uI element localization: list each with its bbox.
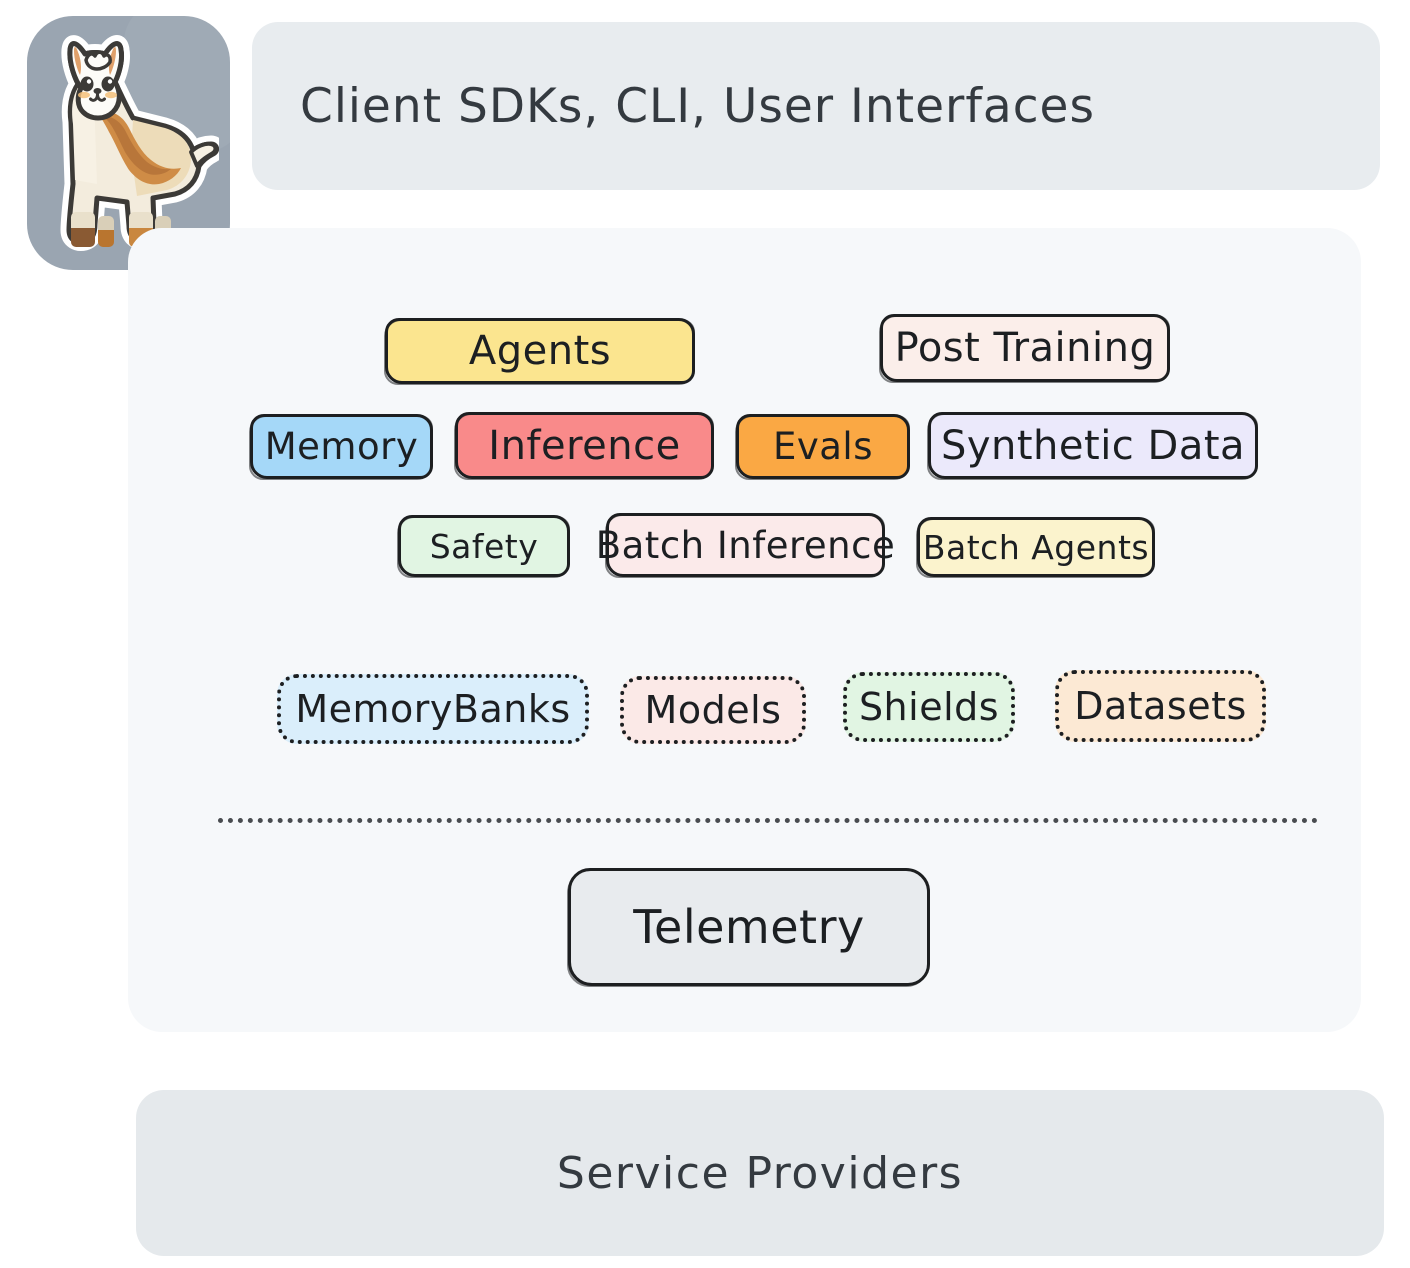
- api-box-label: Agents: [469, 328, 611, 374]
- api-box-label: Synthetic Data: [941, 423, 1245, 469]
- api-box-label: Evals: [773, 425, 873, 468]
- api-box-post-training[interactable]: Post Training: [880, 314, 1170, 382]
- api-box-inference[interactable]: Inference: [455, 412, 714, 479]
- api-box-label: Batch Agents: [923, 528, 1149, 567]
- telemetry-label: Telemetry: [633, 900, 864, 954]
- resource-box-label: MemoryBanks: [295, 687, 570, 731]
- api-box-memory[interactable]: Memory: [250, 414, 433, 479]
- api-box-label: Inference: [488, 423, 680, 469]
- telemetry-box[interactable]: Telemetry: [568, 868, 930, 986]
- api-box-agents[interactable]: Agents: [385, 318, 695, 384]
- api-box-safety[interactable]: Safety: [398, 515, 570, 577]
- api-box-label: Post Training: [895, 325, 1156, 371]
- api-box-synthetic-data[interactable]: Synthetic Data: [928, 412, 1258, 479]
- resource-box-datasets[interactable]: Datasets: [1055, 670, 1266, 742]
- resource-box-shields[interactable]: Shields: [843, 672, 1015, 742]
- resource-box-models[interactable]: Models: [620, 676, 806, 744]
- bottom-banner-title: Service Providers: [557, 1148, 963, 1199]
- llama-icon: [41, 34, 219, 258]
- top-banner: Client SDKs, CLI, User Interfaces: [252, 22, 1380, 190]
- resource-box-label: Datasets: [1074, 684, 1247, 728]
- bottom-banner: Service Providers: [136, 1090, 1384, 1256]
- resource-box-label: Models: [645, 688, 782, 732]
- api-box-evals[interactable]: Evals: [736, 414, 910, 479]
- resource-box-label: Shields: [859, 685, 999, 729]
- api-box-batch-inference[interactable]: Batch Inference: [606, 513, 885, 577]
- dotted-divider: [218, 818, 1318, 823]
- api-box-label: Batch Inference: [596, 524, 896, 567]
- api-box-batch-agents[interactable]: Batch Agents: [917, 517, 1155, 577]
- api-box-label: Memory: [265, 425, 418, 468]
- resource-box-memorybanks[interactable]: MemoryBanks: [277, 674, 589, 744]
- top-banner-title: Client SDKs, CLI, User Interfaces: [300, 79, 1095, 134]
- api-box-label: Safety: [430, 527, 539, 566]
